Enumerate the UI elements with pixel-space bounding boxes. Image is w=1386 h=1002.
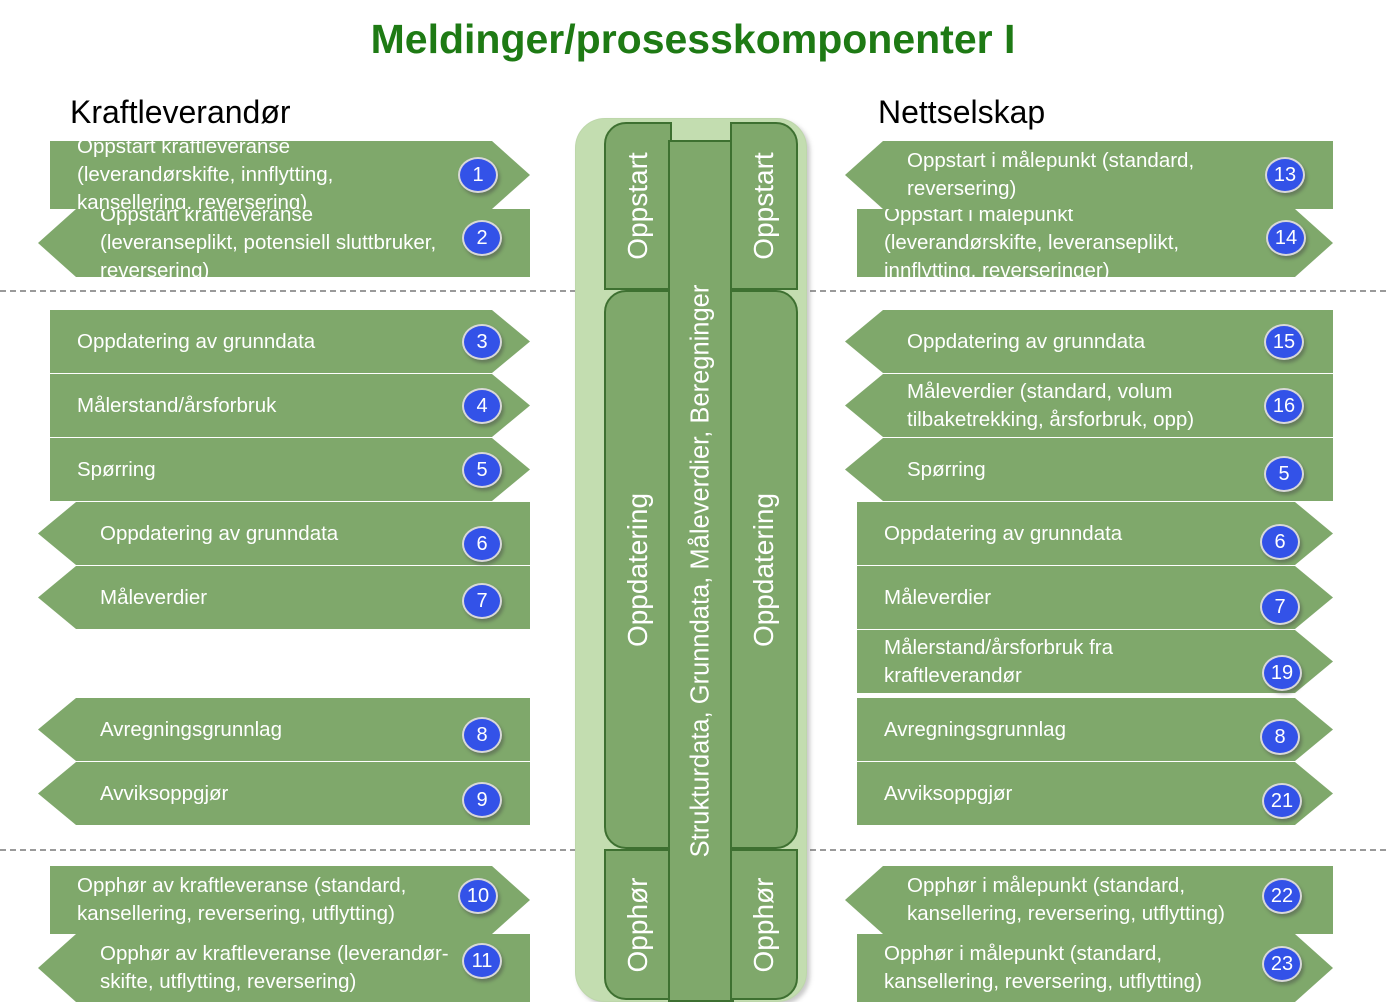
message-label: Oppstart kraftleveranse (leverandørskift… (77, 133, 434, 217)
segment-right-oppdatering[interactable]: Oppdatering (730, 290, 798, 849)
message-badge-left-10[interactable]: 10 (458, 878, 498, 914)
message-label: Målerstand/årsforbruk (77, 392, 434, 420)
message-badge-right-22[interactable]: 22 (1262, 878, 1302, 914)
segment-left-opphor[interactable]: Opphør (604, 849, 672, 1000)
message-badge-right-23[interactable]: 23 (1262, 946, 1302, 982)
message-badge-right-5[interactable]: 5 (1264, 456, 1304, 492)
page-title: Meldinger/prosesskomponenter I (0, 16, 1386, 63)
column-heading-left: Kraftleverandør (70, 94, 291, 131)
segment-right-oppstart[interactable]: Oppstart (730, 122, 798, 290)
segment-label: Oppstart (622, 152, 654, 259)
message-label: Avviksoppgjør (100, 780, 450, 808)
message-arrow-left-11[interactable]: Opphør av kraftleveranse (leverandør-ski… (38, 934, 530, 1002)
message-badge-right-13[interactable]: 13 (1265, 157, 1305, 193)
segment-label: Opphør (748, 877, 780, 972)
message-label: Oppdatering av grunndata (100, 520, 450, 548)
message-arrow-right-22[interactable]: Opphør i målepunkt (standard, kanselleri… (845, 866, 1333, 934)
message-badge-right-8[interactable]: 8 (1260, 719, 1300, 755)
message-label: Oppdatering av grunndata (77, 328, 434, 356)
message-arrow-right-15[interactable]: Oppdatering av grunndata (845, 310, 1333, 373)
message-arrow-left-7[interactable]: Måleverdier (38, 566, 530, 629)
message-arrow-right-16[interactable]: Måleverdier (standard, volum tilbaketrek… (845, 374, 1333, 437)
segment-center-band[interactable]: Strukturdata, Grunndata, Måleverdier, Be… (668, 140, 734, 1002)
column-heading-right: Nettselskap (878, 94, 1045, 131)
message-arrow-right-5[interactable]: Spørring (845, 438, 1333, 501)
message-arrow-left-5[interactable]: Spørring (50, 438, 530, 501)
message-arrow-left-9[interactable]: Avviksoppgjør (38, 762, 530, 825)
message-badge-left-1[interactable]: 1 (458, 157, 498, 193)
message-badge-left-6[interactable]: 6 (462, 526, 502, 562)
message-badge-right-21[interactable]: 21 (1262, 783, 1302, 819)
message-label: Oppstart i målepunkt (leverandørskifte, … (884, 201, 1237, 285)
message-badge-left-4[interactable]: 4 (462, 388, 502, 424)
message-badge-right-16[interactable]: 16 (1264, 388, 1304, 424)
segment-label: Oppstart (748, 152, 780, 259)
message-badge-right-19[interactable]: 19 (1262, 655, 1302, 691)
segment-label: Oppdatering (748, 492, 780, 646)
message-label: Avviksoppgjør (884, 780, 1237, 808)
message-badge-left-2[interactable]: 2 (462, 220, 502, 256)
message-label: Opphør i målepunkt (standard, kanselleri… (907, 872, 1253, 928)
message-label: Avregningsgrunnlag (100, 716, 450, 744)
message-badge-left-9[interactable]: 9 (462, 782, 502, 818)
message-label: Måleverdier (standard, volum tilbaketrek… (907, 378, 1253, 434)
message-arrow-right-19[interactable]: Målerstand/årsforbruk fra kraftleverandø… (857, 630, 1333, 693)
message-label: Oppdatering av grunndata (884, 520, 1237, 548)
message-label: Oppstart i målepunkt (standard, reverser… (907, 147, 1253, 203)
message-label: Målerstand/årsforbruk fra kraftleverandø… (884, 634, 1237, 690)
message-badge-left-11[interactable]: 11 (462, 943, 502, 979)
message-badge-right-6[interactable]: 6 (1260, 524, 1300, 560)
message-arrow-left-8[interactable]: Avregningsgrunnlag (38, 698, 530, 761)
message-arrow-right-14[interactable]: Oppstart i målepunkt (leverandørskifte, … (857, 209, 1333, 277)
message-label: Oppstart kraftleveranse (leveranseplikt,… (100, 201, 450, 285)
message-badge-left-7[interactable]: 7 (462, 583, 502, 619)
message-arrow-right-13[interactable]: Oppstart i målepunkt (standard, reverser… (845, 141, 1333, 209)
message-badge-right-15[interactable]: 15 (1264, 324, 1304, 360)
message-label: Måleverdier (100, 584, 450, 612)
message-badge-left-5[interactable]: 5 (462, 452, 502, 488)
segment-label: Oppdatering (622, 492, 654, 646)
diagram-canvas: Meldinger/prosesskomponenter I Kraftleve… (0, 0, 1386, 1002)
message-arrow-left-2[interactable]: Oppstart kraftleveranse (leveranseplikt,… (38, 209, 530, 277)
message-label: Opphør av kraftleveranse (leverandør-ski… (100, 940, 450, 996)
segment-label: Opphør (622, 877, 654, 972)
message-label: Måleverdier (884, 584, 1237, 612)
message-label: Spørring (907, 456, 1253, 484)
message-label: Opphør av kraftleveranse (standard, kans… (77, 872, 434, 928)
message-arrow-left-4[interactable]: Målerstand/årsforbruk (50, 374, 530, 437)
message-badge-right-14[interactable]: 14 (1266, 220, 1306, 256)
message-arrow-right-21[interactable]: Avviksoppgjør (857, 762, 1333, 825)
message-badge-left-8[interactable]: 8 (462, 717, 502, 753)
message-badge-left-3[interactable]: 3 (462, 324, 502, 360)
message-badge-right-7[interactable]: 7 (1260, 589, 1300, 625)
segment-label: Strukturdata, Grunndata, Måleverdier, Be… (687, 285, 716, 858)
message-label: Spørring (77, 456, 434, 484)
message-arrow-left-3[interactable]: Oppdatering av grunndata (50, 310, 530, 373)
segment-left-oppdatering[interactable]: Oppdatering (604, 290, 672, 849)
message-label: Avregningsgrunnlag (884, 716, 1237, 744)
message-label: Oppdatering av grunndata (907, 328, 1253, 356)
segment-right-opphor[interactable]: Opphør (730, 849, 798, 1000)
segment-left-oppstart[interactable]: Oppstart (604, 122, 672, 290)
message-arrow-left-6[interactable]: Oppdatering av grunndata (38, 502, 530, 565)
message-label: Opphør i målepunkt (standard, kanselleri… (884, 940, 1237, 996)
